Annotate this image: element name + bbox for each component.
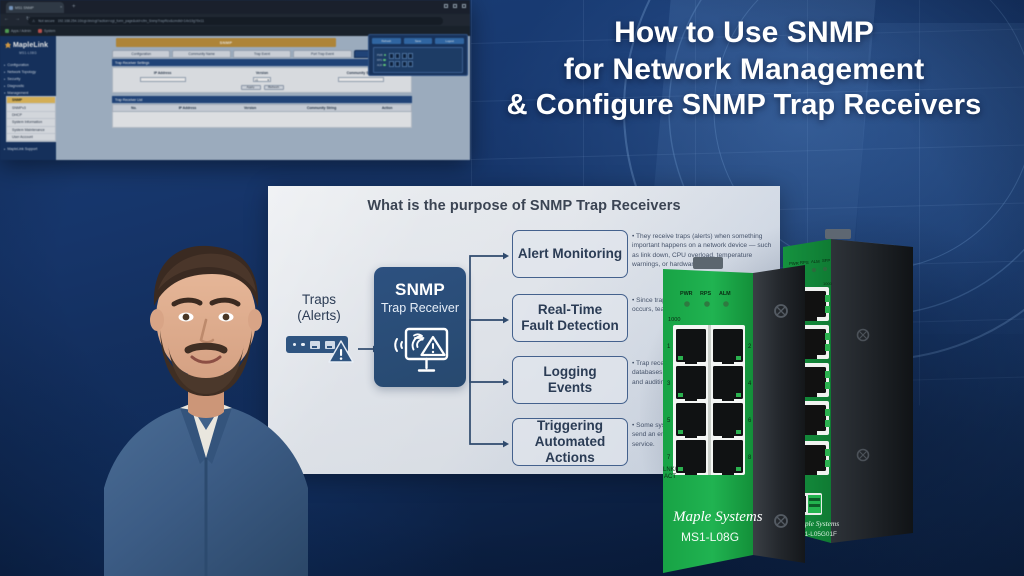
tab-favicon xyxy=(9,6,13,10)
device-status-widget[interactable]: Refresh Save Logout PWR RPS ALM xyxy=(368,34,468,76)
led-indicator xyxy=(384,54,386,56)
forward-icon[interactable]: → xyxy=(15,17,20,22)
sidebar-item-configuration[interactable]: ▸ Configuration xyxy=(0,61,56,68)
svg-text:ACT: ACT xyxy=(664,474,676,480)
security-label: Not secure xyxy=(38,19,54,23)
form-actions[interactable]: Apply Refresh xyxy=(113,85,411,91)
chevron-down-icon: ▾ xyxy=(267,78,269,82)
browser-tab[interactable]: MS1 SNMP xyxy=(6,2,64,13)
version-value: v1 xyxy=(255,78,258,82)
new-tab-icon[interactable]: + xyxy=(72,4,76,10)
trap-receiver-settings-header: Trap Receiver Settings xyxy=(112,59,412,66)
device-refresh-button[interactable]: Refresh xyxy=(372,38,401,44)
tab-label: MS1 SNMP xyxy=(15,6,34,10)
ip-address-input[interactable] xyxy=(140,77,186,82)
svg-text:RPS: RPS xyxy=(800,260,809,265)
device-widget-buttons[interactable]: Refresh Save Logout xyxy=(369,35,467,44)
led-indicator xyxy=(383,64,385,66)
sidebar-menu[interactable]: ▸ Configuration ▸ Network Topology ▸ Sec… xyxy=(0,61,56,152)
page-banner: SNMP xyxy=(116,38,336,47)
outcome-label: Logging Events xyxy=(543,364,596,396)
bookmark-icon xyxy=(5,29,9,33)
sidebar-item-snmpv3[interactable]: SNMPv3 xyxy=(7,104,55,111)
sidebar-item-security[interactable]: ▸ Security xyxy=(0,75,56,82)
device-port[interactable] xyxy=(402,53,407,59)
device-port[interactable] xyxy=(395,53,400,59)
tab-trap-event[interactable]: Trap Event xyxy=(233,50,291,58)
chevron-right-icon: ▸ xyxy=(4,70,5,74)
title-line-1: How to Use SNMP xyxy=(470,14,1018,51)
trap-receiver-table-header: No. IP Address Version Community String … xyxy=(112,104,412,112)
sidebar-item-network-topology[interactable]: ▸ Network Topology xyxy=(0,68,56,75)
sidebar-item-dhcp[interactable]: DHCP xyxy=(7,112,55,119)
refresh-button[interactable]: Refresh xyxy=(264,85,284,91)
maximize-icon[interactable] xyxy=(453,4,457,8)
sidebar-item-label: Network Topology xyxy=(7,70,36,74)
column-community-string: Community String xyxy=(280,106,363,110)
maplelink-logo: MapleLink xyxy=(0,36,56,49)
led-pwr: PWR xyxy=(377,54,386,57)
maplelink-content: SNMP Configuration Community Name Trap E… xyxy=(56,36,470,160)
chevron-right-icon: ▸ xyxy=(4,77,5,81)
outcome-box-alert-monitoring: Alert Monitoring xyxy=(512,230,628,278)
bookmark-icon xyxy=(38,29,42,33)
browser-window[interactable]: MS1 SNMP × + ← → ↻ ⚠ Not secure 192.168.… xyxy=(0,0,470,160)
front-switch: PWRRPSALM 1000 xyxy=(663,257,805,573)
title-line-2: for Network Management xyxy=(470,51,1018,88)
browser-nav-buttons[interactable]: ← → ↻ xyxy=(4,17,30,22)
svg-text:ALM: ALM xyxy=(719,291,731,297)
browser-titlebar xyxy=(0,0,470,14)
apply-button[interactable]: Apply xyxy=(241,85,261,91)
field-label: Version xyxy=(213,71,311,75)
snmp-tabs[interactable]: Configuration Community Name Trap Event … xyxy=(112,50,412,58)
column-version: Version xyxy=(220,106,280,110)
sidebar-item-maplelink-support[interactable]: ▸ MapleLink Support xyxy=(0,145,56,152)
snmp-trap-receiver-node: SNMP Trap Receiver xyxy=(374,267,466,387)
bookmark-label: System xyxy=(44,29,55,33)
device-port[interactable] xyxy=(389,53,394,59)
trap-receiver-title: SNMP xyxy=(374,280,466,300)
title-line-3: & Configure SNMP Trap Receivers xyxy=(470,88,1018,124)
led-rps: RPS xyxy=(377,59,386,62)
column-ip-address: IP Address xyxy=(155,106,221,110)
outcome-box-automated-actions: Triggering Automated Actions xyxy=(512,418,628,466)
svg-text:RPS: RPS xyxy=(700,291,711,297)
sidebar-model-label: MS1-L08G xyxy=(0,51,56,55)
window-controls[interactable] xyxy=(444,4,466,8)
device-port[interactable] xyxy=(408,61,413,67)
warning-triangle-icon xyxy=(328,340,354,364)
device-port[interactable] xyxy=(408,53,413,59)
sidebar-item-management[interactable]: ▾ Management xyxy=(0,89,56,96)
svg-text:PWR: PWR xyxy=(789,261,799,266)
bookmark-item[interactable]: System xyxy=(38,29,55,33)
outcome-label: Alert Monitoring xyxy=(518,246,622,262)
column-no: No. xyxy=(113,106,155,110)
close-icon[interactable] xyxy=(462,4,466,8)
device-save-button[interactable]: Save xyxy=(404,38,433,44)
video-frame: How to Use SNMP for Network Management &… xyxy=(0,0,1024,576)
trap-receiver-list-header: Trap Receiver List xyxy=(112,96,412,103)
address-bar[interactable]: ⚠ Not secure 192.168.254.10/cgi-bin/cgi?… xyxy=(28,17,443,25)
settings-panel-title: Trap Receiver Settings xyxy=(115,61,149,65)
chevron-right-icon: ▸ xyxy=(4,63,5,67)
monitor-alert-icon xyxy=(389,325,451,375)
trap-receiver-table-body xyxy=(112,112,412,128)
maplelink-sidebar[interactable]: MapleLink MS1-L08G ▸ Configuration ▸ Net… xyxy=(0,36,56,160)
hardware-devices: PWRRPSALMSFP 1000 xyxy=(655,225,1024,576)
sidebar-item-system-information[interactable]: System Information xyxy=(7,119,55,126)
outcome-label: Triggering Automated Actions xyxy=(513,418,627,466)
back-icon[interactable]: ← xyxy=(4,17,9,22)
sidebar-item-snmp[interactable]: SNMP xyxy=(7,97,55,104)
sidebar-item-label: MapleLink Support xyxy=(7,147,37,151)
field-label: IP Address xyxy=(114,71,212,75)
tab-community-name[interactable]: Community Name xyxy=(172,50,230,58)
sidebar-item-label: Management xyxy=(7,91,28,95)
field-ip-address: IP Address xyxy=(114,71,212,82)
chevron-down-icon: ▾ xyxy=(4,91,5,95)
sidebar-item-system-maintenance[interactable]: System Maintenance xyxy=(7,127,55,134)
svg-text:PWR: PWR xyxy=(680,291,693,297)
device-front-panel-graphic: PWR RPS ALM xyxy=(373,47,463,73)
svg-text:MS1-L08G: MS1-L08G xyxy=(681,530,739,544)
led-indicator xyxy=(383,59,385,61)
device-logout-button[interactable]: Logout xyxy=(435,38,464,44)
led-alm: ALM xyxy=(377,64,386,67)
bookmark-label: Apps / Admin xyxy=(11,29,31,33)
device-led-group: PWR RPS ALM xyxy=(377,54,386,67)
trap-receiver-subtitle: Trap Receiver xyxy=(374,301,466,315)
bookmark-item[interactable]: Apps / Admin xyxy=(5,29,31,33)
presenter-figure xyxy=(96,158,316,576)
device-port[interactable] xyxy=(389,61,394,67)
url-text: 192.168.254.10/cgi-bin/cgi?action=cgi_fo… xyxy=(58,19,204,23)
column-action: Action xyxy=(363,106,411,110)
community-string-input[interactable] xyxy=(338,77,384,82)
sidebar-item-label: Security xyxy=(7,77,20,81)
svg-text:1000: 1000 xyxy=(668,317,680,323)
brand-name: MapleLink xyxy=(13,42,48,49)
svg-text:1000: 1000 xyxy=(823,281,833,286)
trap-receiver-settings-form[interactable]: IP Address Version v1 ▾ Community String xyxy=(112,67,412,93)
sidebar-item-diagnostic[interactable]: ▸ Diagnostic xyxy=(0,82,56,89)
sidebar-item-label: Configuration xyxy=(7,63,28,67)
outcome-box-fault-detection: Real-Time Fault Detection xyxy=(512,294,628,342)
svg-text:ALM: ALM xyxy=(811,259,820,264)
outcome-label: Real-Time Fault Detection xyxy=(521,302,619,334)
device-port[interactable] xyxy=(395,61,400,67)
field-version: Version v1 ▾ xyxy=(213,71,311,82)
not-secure-icon: ⚠ xyxy=(32,19,35,23)
outcome-box-logging-events: Logging Events xyxy=(512,356,628,404)
chevron-right-icon: ▸ xyxy=(4,147,5,151)
device-port-grid[interactable] xyxy=(389,53,413,66)
slide-heading: What is the purpose of SNMP Trap Receive… xyxy=(268,198,780,214)
device-port[interactable] xyxy=(402,61,407,67)
page-banner-label: SNMP xyxy=(220,40,233,45)
maple-leaf-icon xyxy=(5,42,11,49)
svg-text:Maple Systems: Maple Systems xyxy=(672,509,763,525)
tab-port-trap-event[interactable]: Port Trap Event xyxy=(293,50,351,58)
sidebar-submenu-management[interactable]: SNMP SNMPv3 DHCP System Information Syst… xyxy=(6,96,56,142)
tab-configuration[interactable]: Configuration xyxy=(112,50,170,58)
minimize-icon[interactable] xyxy=(444,4,448,8)
video-title: How to Use SNMP for Network Management &… xyxy=(470,14,1018,124)
chevron-right-icon: ▸ xyxy=(4,84,5,88)
tab-close-icon[interactable]: × xyxy=(60,4,62,9)
version-select[interactable]: v1 ▾ xyxy=(253,77,271,82)
svg-text:LNK/: LNK/ xyxy=(663,467,677,473)
sidebar-item-label: Diagnostic xyxy=(7,84,24,88)
list-panel-title: Trap Receiver List xyxy=(115,98,142,102)
sidebar-item-user-account[interactable]: User Account xyxy=(7,134,55,141)
svg-text:SFP: SFP xyxy=(822,258,830,263)
